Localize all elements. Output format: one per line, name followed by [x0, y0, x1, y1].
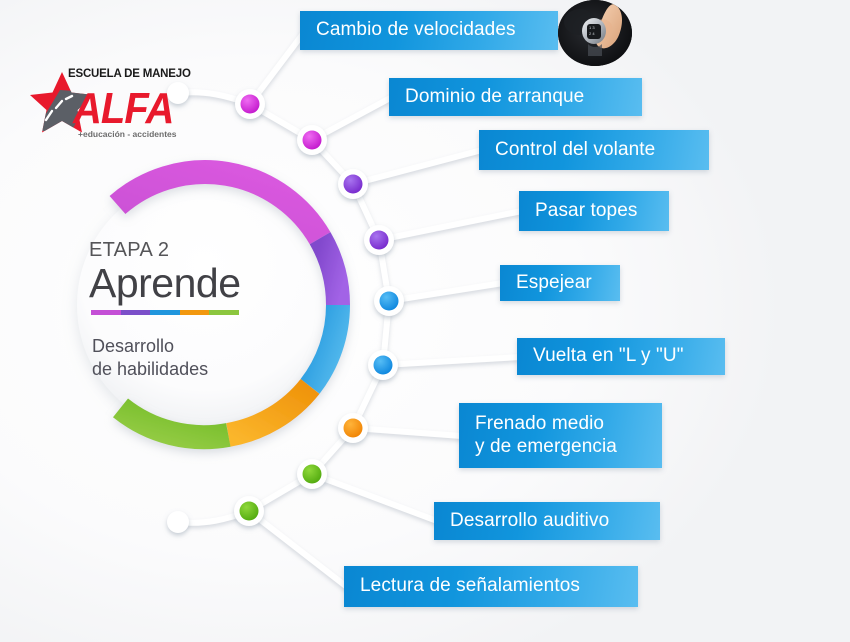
terminal-cap-bottom: [167, 511, 189, 533]
label-espejear[interactable]: Espejear: [500, 265, 620, 301]
rule-seg-2: [121, 310, 151, 315]
node-frenado-medio[interactable]: [338, 413, 368, 443]
infographic-canvas: ESCUELA DE MANEJO ALFA +educación - acci…: [0, 0, 850, 642]
gear-shift-photo: 1 3 2 4: [558, 0, 632, 66]
label-dominio-de-arranque[interactable]: Dominio de arranque: [389, 78, 642, 116]
node-control-del-volante[interactable]: [338, 169, 368, 199]
node-lectura-de-senalamientos[interactable]: [234, 496, 264, 526]
logo-school-text: ESCUELA DE MANEJO: [68, 68, 191, 80]
label-control-del-volante[interactable]: Control del volante: [479, 130, 709, 170]
logo-tagline: +educación - accidentes: [78, 129, 177, 139]
color-rule: [91, 310, 239, 315]
center-subtitle: Desarrollo de habilidades: [92, 335, 319, 381]
rule-seg-4: [180, 310, 210, 315]
label-pasar-topes[interactable]: Pasar topes: [519, 191, 669, 231]
node-espejear[interactable]: [374, 286, 404, 316]
center-subtitle-line2: de habilidades: [92, 358, 319, 381]
stage-label: ETAPA 2: [89, 240, 319, 260]
node-dominio-de-arranque[interactable]: [297, 125, 327, 155]
label-frenado-medio-y-de-emergencia[interactable]: Frenado medio y de emergencia: [459, 403, 662, 468]
label-vuelta-en-l-y-u[interactable]: Vuelta en "L y "U": [517, 338, 725, 375]
svg-text:1 3: 1 3: [589, 25, 595, 30]
rule-seg-3: [150, 310, 180, 315]
logo-brand-text: ALFA: [73, 85, 173, 134]
node-cambio-de-velocidades[interactable]: [235, 89, 265, 119]
label-lectura-de-senalamientos[interactable]: Lectura de señalamientos: [344, 566, 638, 607]
label-cambio-de-velocidades[interactable]: Cambio de velocidades: [300, 11, 558, 50]
rule-seg-1: [91, 310, 121, 315]
node-pasar-topes[interactable]: [364, 225, 394, 255]
rule-seg-5: [209, 310, 239, 315]
svg-text:2 4: 2 4: [589, 31, 595, 36]
brand-logo: ESCUELA DE MANEJO ALFA +educación - acci…: [30, 66, 180, 144]
node-desarrollo-auditivo[interactable]: [297, 459, 327, 489]
center-text-block: ETAPA 2 Aprende Desarrollo de habilidade…: [89, 240, 319, 381]
node-vuelta-en-l-y-u[interactable]: [368, 350, 398, 380]
center-subtitle-line1: Desarrollo: [92, 335, 319, 358]
page-title: Aprende: [89, 262, 319, 305]
label-desarrollo-auditivo[interactable]: Desarrollo auditivo: [434, 502, 660, 540]
